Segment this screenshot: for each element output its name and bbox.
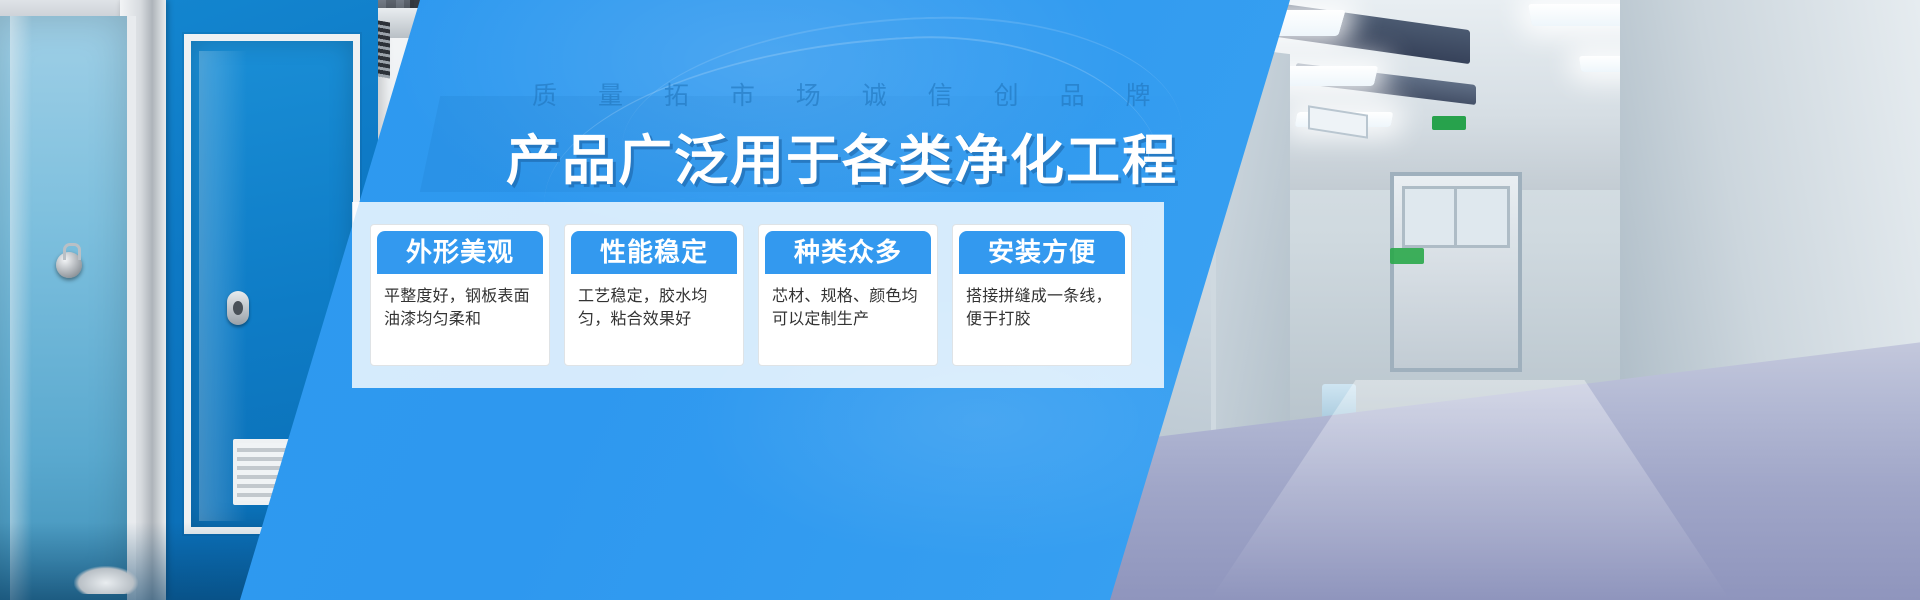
feature-card[interactable]: 安装方便 搭接拼缝成一条线，便于打胶 bbox=[952, 224, 1132, 366]
feature-card-title: 种类众多 bbox=[765, 231, 931, 274]
feature-card-strip: 外形美观 平整度好，钢板表面油漆均匀柔和 性能稳定 工艺稳定，胶水均匀，粘合效果… bbox=[352, 202, 1164, 388]
feature-card-body: 平整度好，钢板表面油漆均匀柔和 bbox=[371, 274, 549, 343]
door-handle bbox=[227, 291, 249, 325]
feature-card[interactable]: 性能稳定 工艺稳定，胶水均匀，粘合效果好 bbox=[564, 224, 744, 366]
promo-banner: 质 量 拓 市 场 诚 信 创 品 牌 产品广泛用于各类净化工程 外形美观 平整… bbox=[0, 0, 1920, 600]
feature-card-body: 工艺稳定，胶水均匀，粘合效果好 bbox=[565, 274, 743, 343]
feature-card-title: 性能稳定 bbox=[571, 231, 737, 274]
safety-sign-icon bbox=[1390, 248, 1424, 264]
exit-sign-icon bbox=[1432, 116, 1466, 130]
ground-debris bbox=[74, 566, 138, 594]
feature-card[interactable]: 外形美观 平整度好，钢板表面油漆均匀柔和 bbox=[370, 224, 550, 366]
feature-card-title: 外形美观 bbox=[377, 231, 543, 274]
feature-card-body: 搭接拼缝成一条线，便于打胶 bbox=[953, 274, 1131, 343]
glass-cabin bbox=[0, 16, 136, 600]
padlock bbox=[56, 252, 82, 278]
feature-card[interactable]: 种类众多 芯材、规格、颜色均可以定制生产 bbox=[758, 224, 938, 366]
feature-card-title: 安装方便 bbox=[959, 231, 1125, 274]
feature-card-body: 芯材、规格、颜色均可以定制生产 bbox=[759, 274, 937, 343]
corridor-door-far bbox=[1390, 172, 1522, 372]
